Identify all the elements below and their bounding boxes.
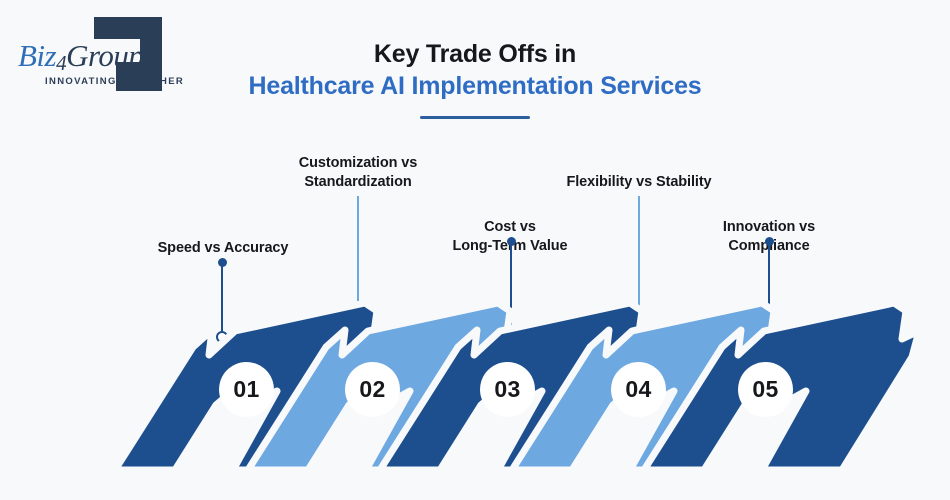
step-number-badge-01: 01: [219, 362, 274, 417]
infographic-page: Biz4Group INNOVATING TOGETHER Key Trade …: [0, 0, 950, 500]
step-label-02: Customization vs Standardization: [280, 154, 436, 192]
brand-name-digit: 4: [56, 51, 66, 75]
title-line-2: Healthcare AI Implementation Services: [235, 70, 715, 103]
brand-name-suffix: Group: [66, 38, 143, 73]
brand-name-prefix: Biz: [18, 38, 56, 73]
brand-tagline: INNOVATING TOGETHER: [45, 76, 184, 87]
arrow-band: [0, 295, 950, 470]
step-number-badge-02: 02: [345, 362, 400, 417]
step-number-badge-05: 05: [738, 362, 793, 417]
step-label-01: Speed vs Accuracy: [148, 239, 298, 258]
title-line-1: Key Trade Offs in: [235, 38, 715, 70]
title-underline-divider: [420, 116, 530, 119]
brand-wordmark: Biz4Group: [18, 38, 150, 74]
page-title: Key Trade Offs in Healthcare AI Implemen…: [235, 38, 715, 103]
step-number-badge-03: 03: [480, 362, 535, 417]
step-number-badge-04: 04: [611, 362, 666, 417]
brand-logo: Biz4Group INNOVATING TOGETHER: [18, 16, 178, 92]
step-label-04: Flexibility vs Stability: [558, 173, 720, 192]
